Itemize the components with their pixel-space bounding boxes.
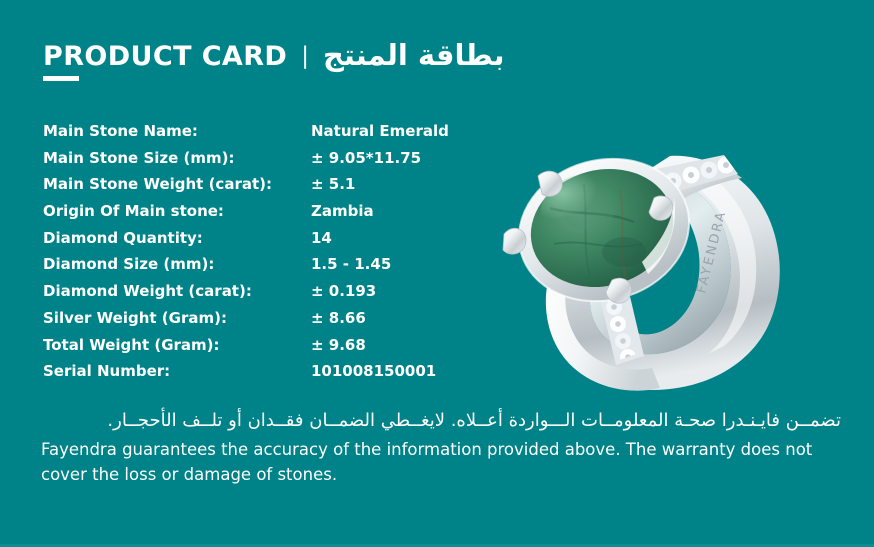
card-header: PRODUCT CARD | بطاقة المنتج bbox=[43, 38, 505, 72]
spec-value: ± 9.05*11.75 bbox=[311, 151, 421, 166]
warranty-footer: تضمــن فايـنـدرا صحـة المعلومــات الـــو… bbox=[41, 408, 841, 488]
warranty-text-ar: تضمــن فايـنـدرا صحـة المعلومــات الـــو… bbox=[41, 408, 841, 434]
table-row: Main Stone Weight (carat): ± 5.1 bbox=[43, 177, 493, 204]
table-row: Serial Number: 101008150001 bbox=[43, 364, 493, 391]
table-row: Origin Of Main stone: Zambia bbox=[43, 204, 493, 231]
ring-illustration: FAYENDRA bbox=[492, 112, 874, 402]
spec-label: Diamond Weight (carat): bbox=[43, 284, 311, 299]
title-underline-rule bbox=[43, 76, 79, 81]
table-row: Total Weight (Gram): ± 9.68 bbox=[43, 338, 493, 365]
table-row: Silver Weight (Gram): ± 8.66 bbox=[43, 311, 493, 338]
spec-label: Main Stone Size (mm): bbox=[43, 151, 311, 166]
title-separator: | bbox=[301, 43, 309, 69]
specifications-table: Main Stone Name: Natural Emerald Main St… bbox=[43, 124, 493, 391]
table-row: Main Stone Name: Natural Emerald bbox=[43, 124, 493, 151]
spec-value: Natural Emerald bbox=[311, 124, 449, 139]
page-title-en: PRODUCT CARD bbox=[43, 41, 287, 72]
spec-label: Main Stone Name: bbox=[43, 124, 311, 139]
page-title-ar: بطاقة المنتج bbox=[323, 38, 505, 72]
spec-label: Main Stone Weight (carat): bbox=[43, 177, 311, 192]
table-row: Diamond Weight (carat): ± 0.193 bbox=[43, 284, 493, 311]
spec-value: 1.5 - 1.45 bbox=[311, 257, 391, 272]
spec-value: 14 bbox=[311, 231, 332, 246]
table-row: Diamond Size (mm): 1.5 - 1.45 bbox=[43, 257, 493, 284]
spec-value: ± 8.66 bbox=[311, 311, 366, 326]
product-image: FAYENDRA bbox=[492, 112, 874, 402]
spec-label: Diamond Size (mm): bbox=[43, 257, 311, 272]
table-row: Diamond Quantity: 14 bbox=[43, 231, 493, 258]
spec-value: ± 5.1 bbox=[311, 177, 355, 192]
spec-value: ± 0.193 bbox=[311, 284, 376, 299]
spec-label: Total Weight (Gram): bbox=[43, 338, 311, 353]
spec-value: 101008150001 bbox=[311, 364, 436, 379]
spec-label: Diamond Quantity: bbox=[43, 231, 311, 246]
product-card: PRODUCT CARD | بطاقة المنتج Main Stone N… bbox=[0, 0, 874, 547]
table-row: Main Stone Size (mm): ± 9.05*11.75 bbox=[43, 151, 493, 178]
spec-value: Zambia bbox=[311, 204, 374, 219]
warranty-text-en: Fayendra guarantees the accuracy of the … bbox=[41, 438, 841, 488]
spec-label: Origin Of Main stone: bbox=[43, 204, 311, 219]
spec-value: ± 9.68 bbox=[311, 338, 366, 353]
spec-label: Serial Number: bbox=[43, 364, 311, 379]
spec-label: Silver Weight (Gram): bbox=[43, 311, 311, 326]
